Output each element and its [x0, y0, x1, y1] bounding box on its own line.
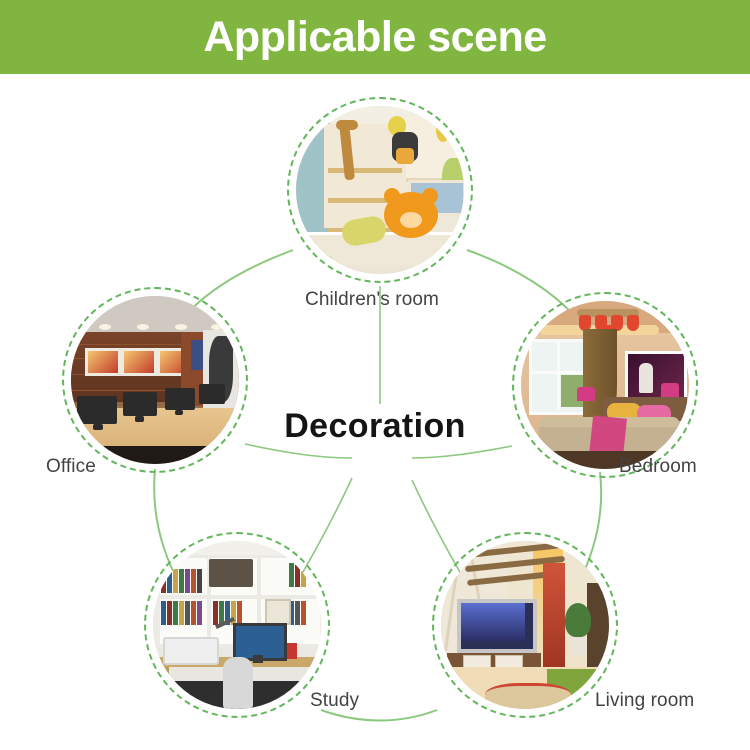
page-title: Applicable scene	[203, 16, 546, 59]
scene-node-living-room[interactable]	[432, 532, 618, 718]
spoke-bedroom	[412, 446, 512, 458]
diagram-center-title: Decoration	[0, 407, 750, 446]
scene-label-bedroom: Bedroom	[619, 456, 697, 478]
scene-label-children-room: Children's room	[305, 289, 439, 311]
living-room-ring	[432, 532, 618, 718]
header-banner: Applicable scene	[0, 0, 750, 74]
scene-diagram: Children's room	[0, 74, 750, 750]
applicable-scene-page: Applicable scene	[0, 0, 750, 750]
study-ring	[144, 532, 330, 718]
scene-node-children-room[interactable]	[287, 97, 473, 283]
scene-label-living-room: Living room	[595, 690, 694, 712]
children-room-ring	[287, 97, 473, 283]
scene-node-study[interactable]	[144, 532, 330, 718]
bedroom-ring	[512, 292, 698, 478]
scene-node-bedroom[interactable]	[512, 292, 698, 478]
scene-label-study: Study	[310, 690, 359, 712]
spoke-office	[245, 444, 352, 458]
scene-label-office: Office	[46, 456, 96, 478]
